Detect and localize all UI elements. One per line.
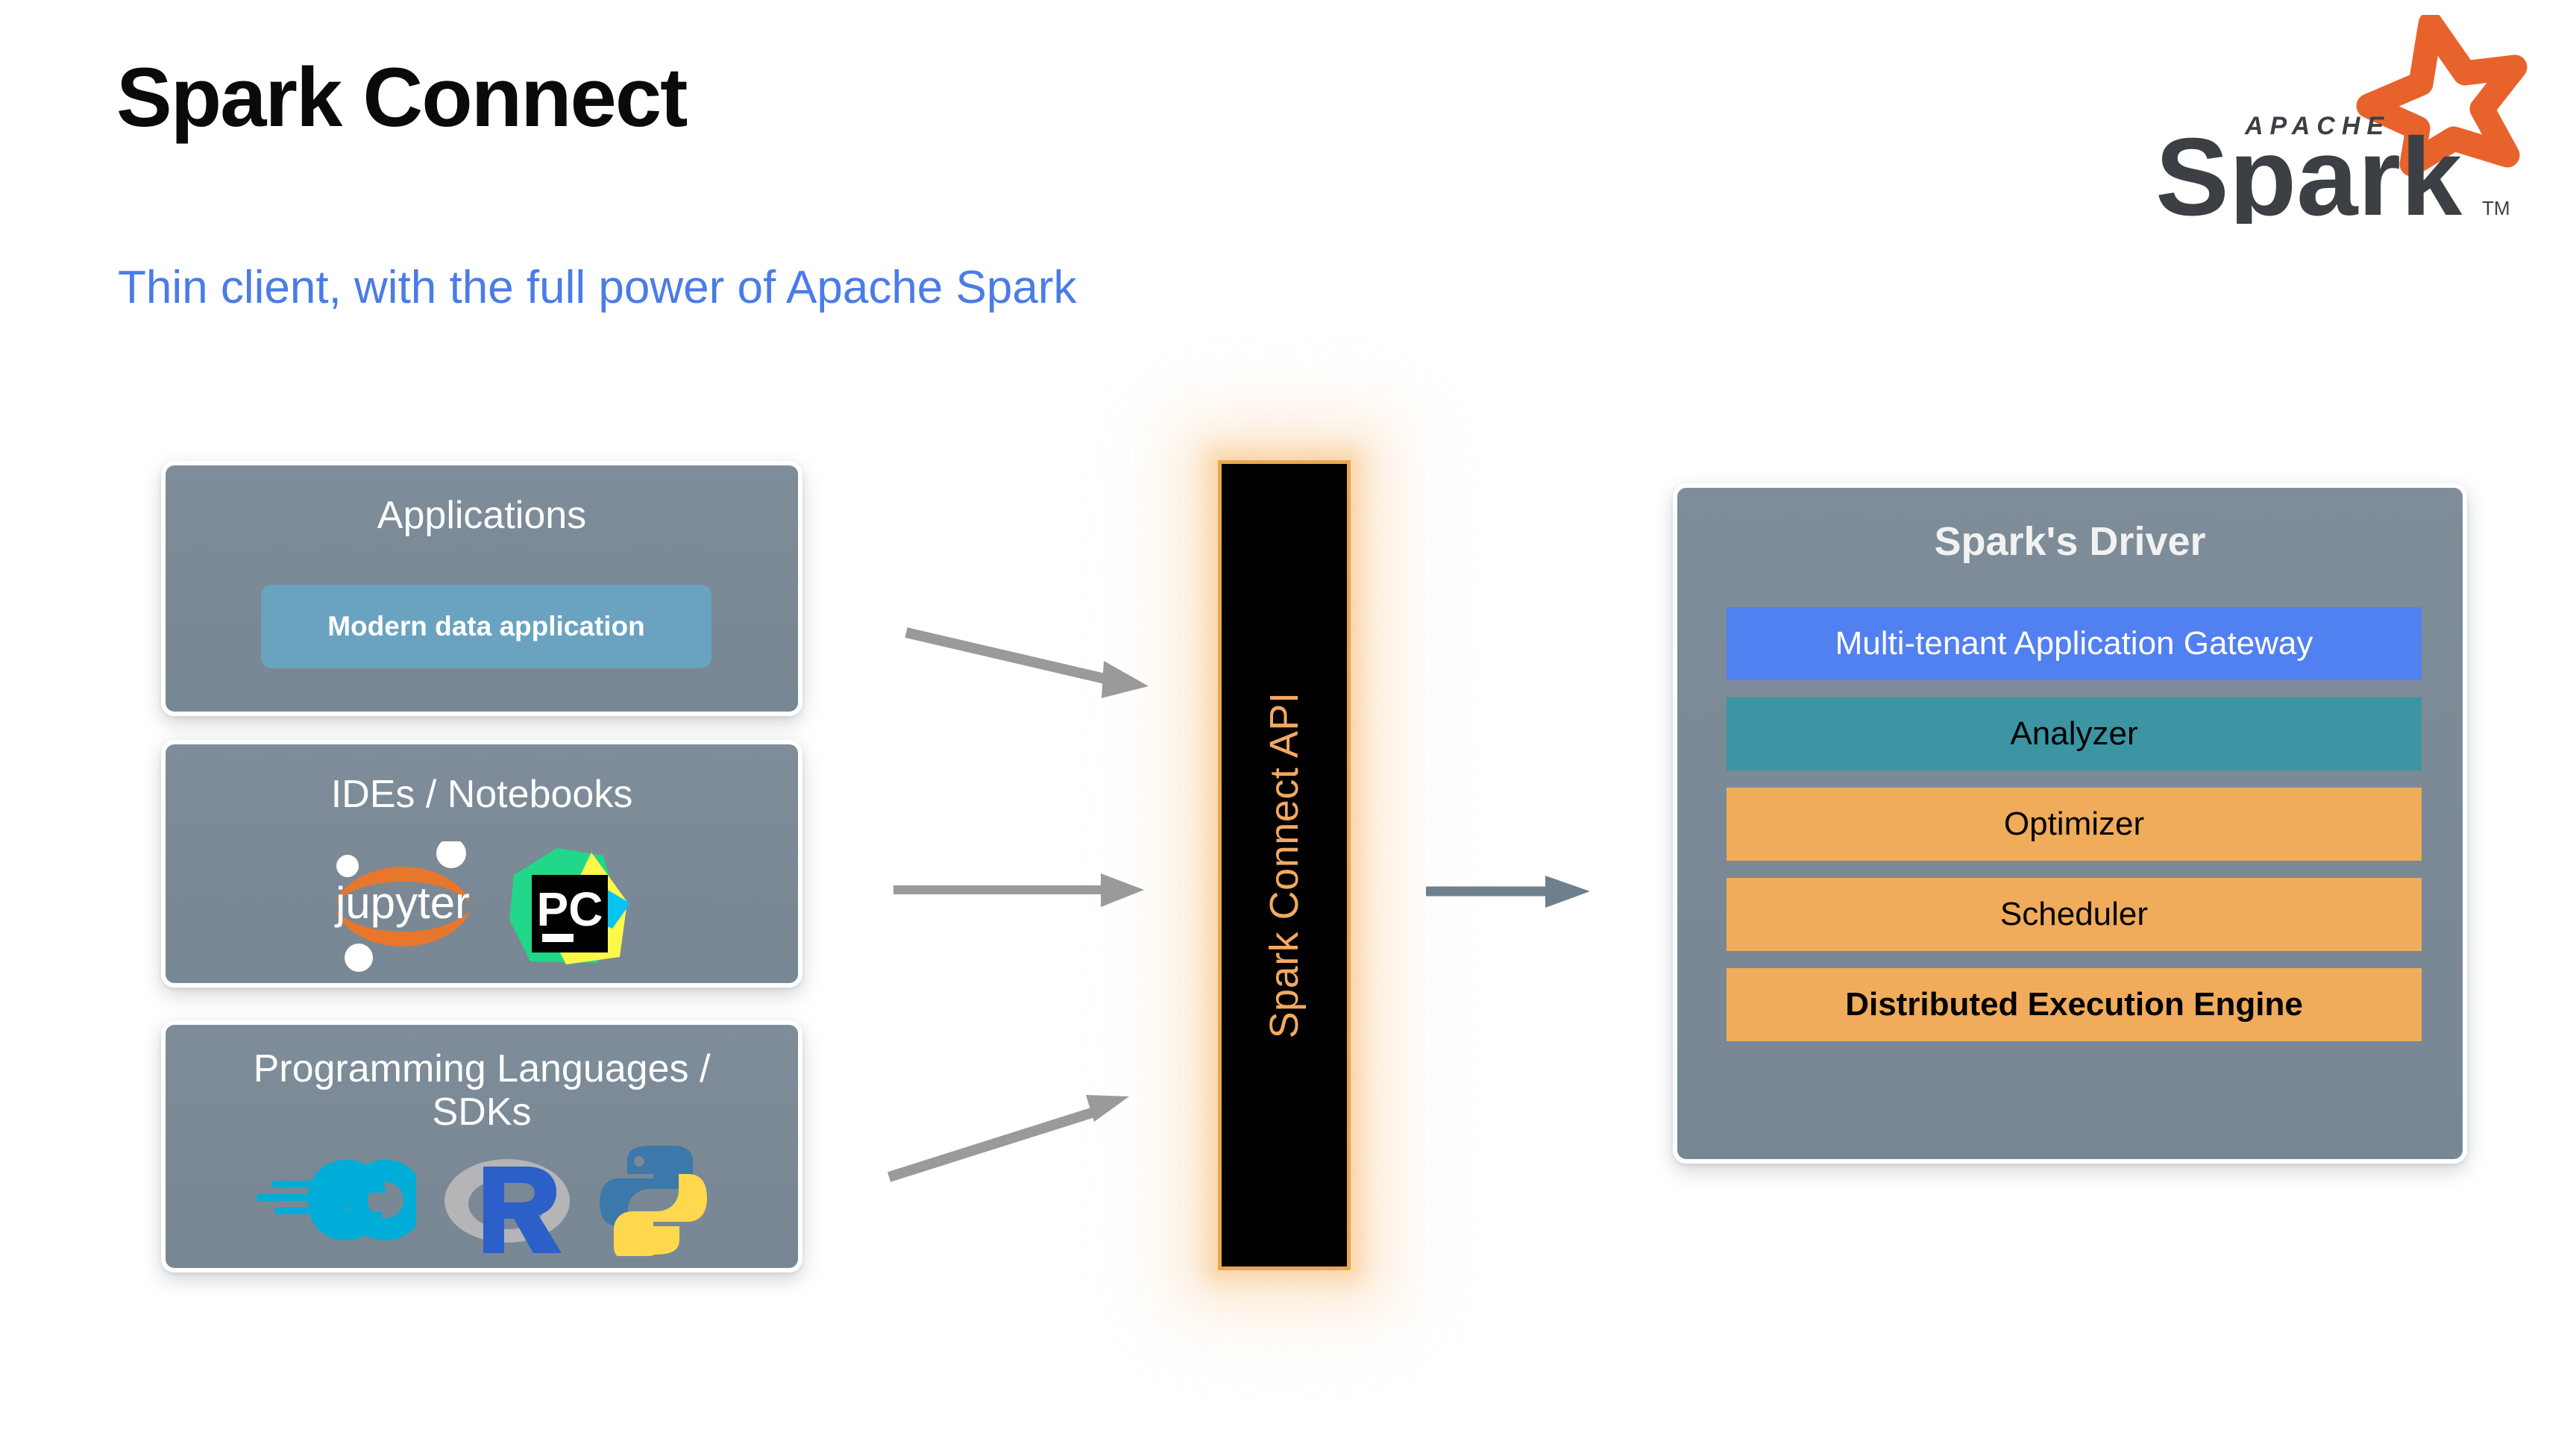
- trademark-mark: TM: [2482, 197, 2510, 219]
- arrow-applications-to-api: [906, 633, 1149, 698]
- pycharm-underscore-icon: [542, 934, 574, 942]
- jupyter-wordmark: jupyter: [334, 878, 470, 928]
- arrow-languages-to-api: [889, 1095, 1129, 1177]
- driver-layer-stack: Multi-tenant Application Gateway Analyze…: [1727, 607, 2422, 1041]
- go-speed-lines-icon: [257, 1181, 316, 1214]
- langs-title-line-1: Programming Languages /: [254, 1047, 711, 1090]
- jupyter-logo: jupyter: [332, 841, 474, 976]
- ides-logo-row: jupyter PC: [166, 841, 798, 976]
- spark-connect-api-bar[interactable]: Spark Connect API: [1218, 460, 1351, 1270]
- pycharm-wordmark: PC: [537, 882, 603, 936]
- spark-wordmark: Spark: [2155, 116, 2463, 224]
- panel-applications[interactable]: Applications Modern data application: [161, 461, 802, 716]
- driver-layer-optimizer[interactable]: Optimizer: [1727, 788, 2422, 861]
- page-title: Spark Connect: [116, 54, 686, 142]
- go-wordmark: [307, 1160, 416, 1240]
- driver-layer-scheduler[interactable]: Scheduler: [1727, 878, 2422, 951]
- python-logo: [598, 1144, 709, 1260]
- apache-spark-logo: APACHE Spark TM: [2126, 15, 2543, 224]
- arrow-api-to-driver: [1426, 876, 1590, 908]
- panel-sparks-driver[interactable]: Spark's Driver Multi-tenant Application …: [1673, 483, 2467, 1164]
- langs-title-line-2: SDKs: [433, 1090, 532, 1134]
- panel-programming-languages[interactable]: Programming Languages / SDKs: [161, 1020, 802, 1272]
- r-logo: [442, 1144, 573, 1260]
- spark-connect-api-label: Spark Connect API: [1261, 692, 1307, 1039]
- panel-ides-notebooks-title: IDEs / Notebooks: [166, 773, 798, 816]
- panel-ides-notebooks[interactable]: IDEs / Notebooks jupyter: [161, 740, 802, 988]
- driver-layer-distributed-execution-engine[interactable]: Distributed Execution Engine: [1727, 968, 2422, 1041]
- driver-layer-analyzer[interactable]: Analyzer: [1727, 697, 2422, 770]
- pycharm-logo: PC: [508, 845, 632, 973]
- languages-logo-row: [166, 1144, 798, 1260]
- driver-layer-multi-tenant-application-gateway[interactable]: Multi-tenant Application Gateway: [1727, 607, 2422, 680]
- arrow-ides-to-api: [893, 873, 1144, 907]
- page-subtitle: Thin client, with the full power of Apac…: [118, 263, 1076, 313]
- sparks-driver-title: Spark's Driver: [1677, 519, 2463, 564]
- go-logo: [255, 1154, 416, 1250]
- panel-applications-title: Applications: [166, 494, 798, 537]
- panel-programming-languages-title: Programming Languages / SDKs: [166, 1047, 798, 1134]
- slide-canvas: Spark Connect Thin client, with the full…: [0, 0, 2576, 1447]
- modern-data-application-box[interactable]: Modern data application: [261, 585, 711, 668]
